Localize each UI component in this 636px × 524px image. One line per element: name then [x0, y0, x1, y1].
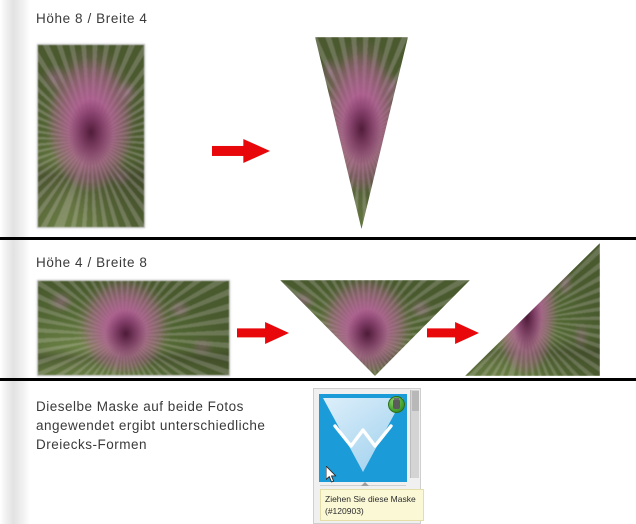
- section-divider-1: [0, 237, 636, 240]
- mask-panel-scrollbar[interactable]: [410, 390, 419, 478]
- tooltip-line-2: (#120903): [325, 505, 419, 517]
- scrollbar-thumb[interactable]: [412, 391, 419, 411]
- photo-portrait-8x4: [37, 44, 145, 228]
- arrow-head: [243, 139, 270, 163]
- photo-landscape-4x8: [37, 280, 230, 376]
- arrow-head: [455, 322, 479, 344]
- explanation-caption: Dieselbe Maske auf beide Fotos angewende…: [36, 397, 276, 454]
- tooltip-line-1: Ziehen Sie diese Maske: [325, 493, 419, 505]
- mask-library-panel[interactable]: Ziehen Sie diese Maske (#120903): [313, 388, 421, 524]
- slide-canvas: Höhe 8 / Breite 4 Höhe 4 / Breite 8 Dies…: [0, 0, 636, 524]
- arrow-row2-second-icon: [427, 322, 479, 344]
- zigzag-overlay-icon: [333, 422, 393, 450]
- result-narrow-inverted-triangle: [315, 37, 408, 229]
- badge-glyph: [393, 400, 400, 409]
- section-divider-2: [0, 378, 636, 381]
- mask-tooltip: Ziehen Sie diese Maske (#120903): [320, 489, 424, 521]
- arrow-shaft: [427, 328, 459, 337]
- mouse-pointer-icon: [326, 466, 337, 483]
- arrow-shaft: [237, 328, 269, 337]
- arrow-shaft: [212, 146, 248, 156]
- left-edge-shading: [0, 0, 30, 524]
- arrow-head: [265, 322, 289, 344]
- result-right-triangle: [465, 243, 600, 376]
- row-1-label: Höhe 8 / Breite 4: [36, 11, 148, 26]
- tooltip-caret-icon: [361, 482, 369, 486]
- arrow-row2-first-icon: [237, 322, 289, 344]
- row-2-label: Höhe 4 / Breite 8: [36, 255, 148, 270]
- premium-lock-badge-icon: [388, 396, 405, 413]
- arrow-row1-icon: [212, 139, 270, 163]
